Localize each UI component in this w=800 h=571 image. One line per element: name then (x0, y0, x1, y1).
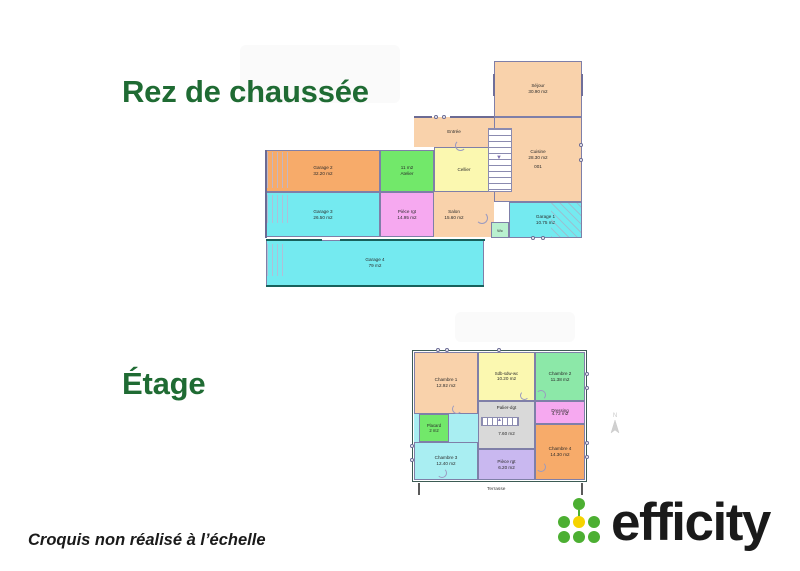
door-swing-sdb (520, 391, 529, 400)
window-upper-right-b (585, 386, 589, 390)
room-chambre-3-annex-right (449, 414, 478, 442)
door-marker-upper-top-c (497, 348, 501, 352)
door-swing-chambre4 (536, 462, 546, 472)
logo-dot-bottom-center (573, 531, 585, 543)
door-marker-upper-top-b (445, 348, 449, 352)
compass-north-icon: N (603, 413, 627, 434)
room-area: 14.30 m2 (550, 452, 569, 458)
logo-dot-bottom-left (558, 531, 570, 543)
window-upper-right-d (585, 455, 589, 459)
logo-dot-mid-center (573, 516, 585, 528)
compass-label: N (603, 413, 627, 419)
door-marker-upper-top-a (436, 348, 440, 352)
window-upper-left-a (410, 444, 414, 448)
window-upper-left-b (410, 458, 414, 462)
logo-dot-matrix-icon (557, 498, 613, 548)
stair-direction-arrow-upper: ▲ (497, 418, 502, 423)
room-area: 7.60 m2 (498, 431, 515, 437)
logo-wordmark: efficity (611, 494, 770, 552)
terrasse-tick-left (418, 483, 420, 495)
room-area: 2 m2 (429, 428, 438, 433)
floor-plan-page: Rez de chaussée Étage Croquis non réalis… (0, 0, 800, 571)
logo-dot-mid-right (588, 516, 600, 528)
room-dressing: Dressing 4.72 m2 (535, 401, 585, 424)
window-upper-right-c (585, 441, 589, 445)
room-area: 12.92 m2 (436, 383, 455, 389)
efficity-logo: efficity (549, 496, 781, 558)
room-chambre-1: Chambre 1 12.92 m2 (414, 352, 478, 414)
room-name: Palier-dgt (497, 405, 517, 411)
door-swing-chambre3 (437, 468, 447, 478)
room-piece-rgt-upper: Pièce rgt 6.20 m2 (478, 449, 535, 480)
logo-dot-top (573, 498, 585, 510)
room-chambre-3-annex (414, 414, 419, 442)
room-area: 4.72 m2 (552, 411, 569, 417)
room-area: 6.20 m2 (498, 465, 515, 471)
upper-floor-plan: Chambre 1 12.92 m2 Sdb-sdw-wc 10.20 m2 C… (0, 0, 800, 571)
room-area: 12.40 m2 (436, 461, 455, 467)
logo-dot-mid-left (558, 516, 570, 528)
room-placard: Placard 2 m2 (419, 414, 449, 442)
room-area: 11.38 m2 (551, 377, 570, 383)
door-swing-chambre2 (536, 390, 546, 400)
window-upper-right-a (585, 372, 589, 376)
room-area: 10.20 m2 (497, 376, 516, 382)
terrasse-tick-right (581, 483, 583, 495)
door-swing-chambre1 (452, 404, 462, 414)
terrasse-label: Terrasse (487, 487, 505, 492)
logo-dot-bottom-right (588, 531, 600, 543)
room-palier-area-label: 7.60 m2 (478, 428, 535, 440)
